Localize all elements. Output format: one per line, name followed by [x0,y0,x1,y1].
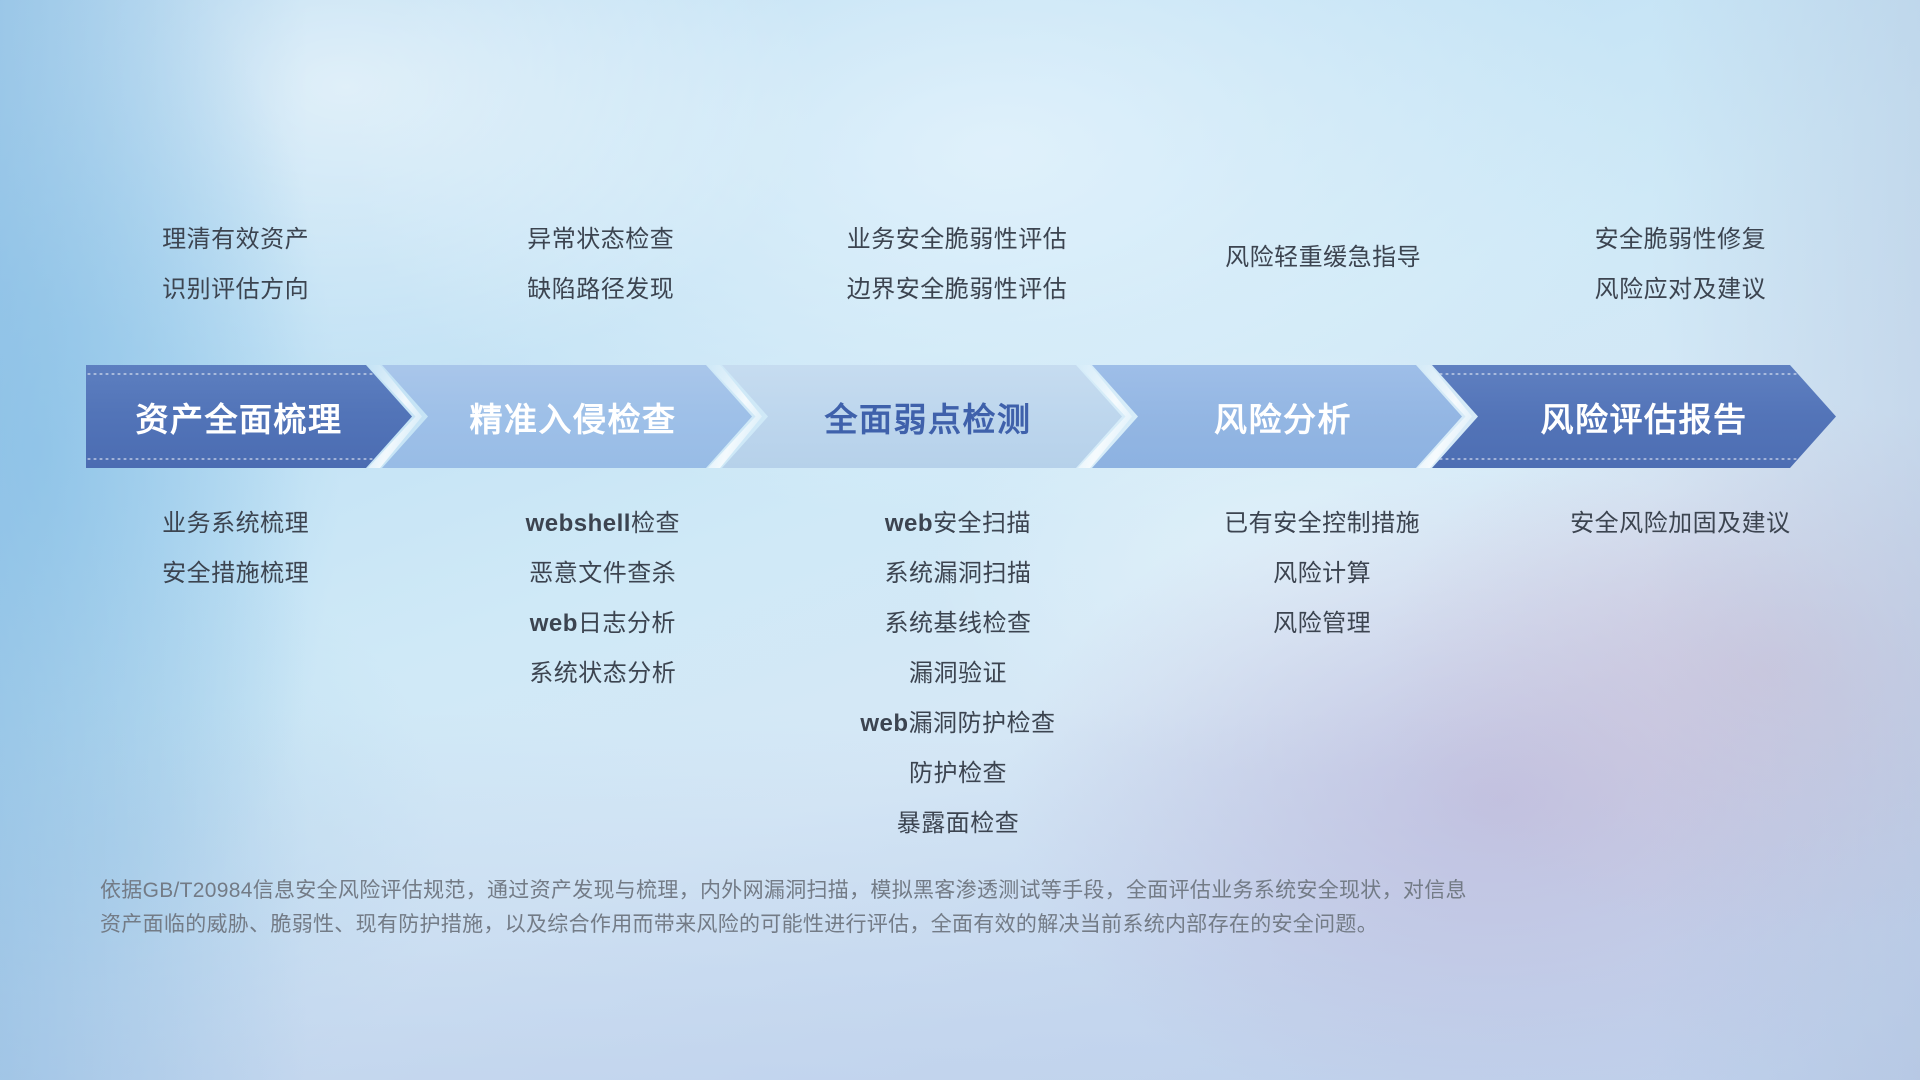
bottom-item-cjk: 系统状态分析 [529,660,676,687]
process-stage-4[interactable]: 风险分析 [1092,365,1462,468]
bottom-item-cjk: 漏洞验证 [909,660,1007,687]
bottom-item-cjk: 防护检查 [909,760,1007,787]
bottom-item-latin: web [530,610,578,637]
dotted-highlight-icon [86,372,412,376]
bottom-item-cjk: 暴露面检查 [897,810,1020,837]
top-item: 风险轻重缓急指导 [1156,246,1491,270]
process-stage-1[interactable]: 资产全面梳理 [86,365,412,468]
process-arrow-banner: 资产全面梳理 精准入侵检查 全面弱点检测 风险分析 风险评估报告 [86,365,1836,468]
bottom-item-cjk: 漏洞防护检查 [909,710,1056,737]
bottom-item-cjk: 风险计算 [1273,560,1371,587]
bottom-column-4: 已有安全控制措施风险计算风险管理 [1138,512,1491,862]
bottom-item-cjk: 系统基线检查 [884,610,1031,637]
bottom-item: 系统基线检查 [784,612,1131,636]
top-column-3: 业务安全脆弱性评估 边界安全脆弱性评估 [784,228,1137,328]
bottom-item: webshell检查 [431,512,774,536]
slide-canvas: 理清有效资产 识别评估方向 异常状态检查 缺陷路径发现 业务安全脆弱性评估 边界… [0,0,1920,1080]
bottom-column-5: 安全风险加固及建议 [1491,512,1844,862]
footer-description: 依据GB/T20984信息安全风险评估规范，通过资产发现与梳理，内外网漏洞扫描，… [100,874,1720,942]
bottom-item: 系统状态分析 [431,662,774,686]
bottom-item: 防护检查 [784,762,1131,786]
top-item: 风险应对及建议 [1517,278,1844,302]
top-item: 边界安全脆弱性评估 [784,278,1129,302]
bottom-item: 风险计算 [1154,562,1491,586]
bottom-item: 暴露面检查 [784,812,1131,836]
bottom-item-latin: web [885,510,933,537]
top-item: 缺陷路径发现 [431,278,770,302]
top-item: 理清有效资产 [78,228,393,252]
top-item: 安全脆弱性修复 [1517,228,1844,252]
bottom-column-2: webshell检查恶意文件查杀web日志分析系统状态分析 [431,512,784,862]
bottom-item-cjk: 恶意文件查杀 [529,560,676,587]
process-stage-label: 风险分析 [1214,393,1352,441]
process-stage-label: 风险评估报告 [1541,393,1748,441]
bottom-item: 恶意文件查杀 [431,562,774,586]
bottom-item-cjk: 安全扫描 [933,510,1031,537]
bottom-item-cjk: 已有安全控制措施 [1224,510,1420,537]
process-stage-3[interactable]: 全面弱点检测 [722,365,1122,468]
bottom-item: web漏洞防护检查 [784,712,1131,736]
bottom-column-1: 业务系统梳理安全措施梳理 [78,512,431,862]
bottom-item: 已有安全控制措施 [1154,512,1491,536]
process-stage-5[interactable]: 风险评估报告 [1432,365,1836,468]
bottom-item: 系统漏洞扫描 [784,562,1131,586]
top-column-1: 理清有效资产 识别评估方向 [78,228,431,328]
bottom-item: 漏洞验证 [784,662,1131,686]
footer-line: 依据GB/T20984信息安全风险评估规范，通过资产发现与梳理，内外网漏洞扫描，… [100,874,1720,908]
bottom-item: 安全措施梳理 [78,562,393,586]
process-stage-label: 全面弱点检测 [825,393,1032,441]
dotted-highlight-icon [1432,457,1836,461]
bottom-item-cjk: 检查 [631,510,680,537]
top-item: 异常状态检查 [431,228,770,252]
top-column-2: 异常状态检查 缺陷路径发现 [431,228,784,328]
bottom-item: 业务系统梳理 [78,512,393,536]
bottom-item-cjk: 安全风险加固及建议 [1570,510,1791,537]
bottom-item-cjk: 系统漏洞扫描 [884,560,1031,587]
process-stage-2[interactable]: 精准入侵检查 [382,365,752,468]
top-item: 识别评估方向 [78,278,393,302]
bottom-item-latin: web [860,710,908,737]
bottom-column-3: web安全扫描系统漏洞扫描系统基线检查漏洞验证web漏洞防护检查防护检查暴露面检… [784,512,1137,862]
top-label-row: 理清有效资产 识别评估方向 异常状态检查 缺陷路径发现 业务安全脆弱性评估 边界… [78,228,1844,328]
bottom-item-cjk: 安全措施梳理 [162,560,309,587]
top-item: 业务安全脆弱性评估 [784,228,1129,252]
top-column-5: 安全脆弱性修复 风险应对及建议 [1491,228,1844,328]
top-column-4: 风险轻重缓急指导 [1138,228,1491,328]
bottom-item: 安全风险加固及建议 [1517,512,1844,536]
process-stage-label: 精准入侵检查 [470,393,677,441]
bottom-item: 风险管理 [1154,612,1491,636]
bottom-item-cjk: 日志分析 [578,610,676,637]
bottom-item-cjk: 业务系统梳理 [162,510,309,537]
footer-line: 资产面临的威胁、脆弱性、现有防护措施，以及综合作用而带来风险的可能性进行评估，全… [100,908,1720,942]
bottom-label-row: 业务系统梳理安全措施梳理 webshell检查恶意文件查杀web日志分析系统状态… [78,512,1844,862]
process-stage-label: 资产全面梳理 [136,393,343,441]
dotted-highlight-icon [1432,372,1836,376]
bottom-item: web日志分析 [431,612,774,636]
bottom-item-latin: webshell [526,510,631,537]
bottom-item-cjk: 风险管理 [1273,610,1371,637]
bottom-item: web安全扫描 [784,512,1131,536]
dotted-highlight-icon [86,457,412,461]
